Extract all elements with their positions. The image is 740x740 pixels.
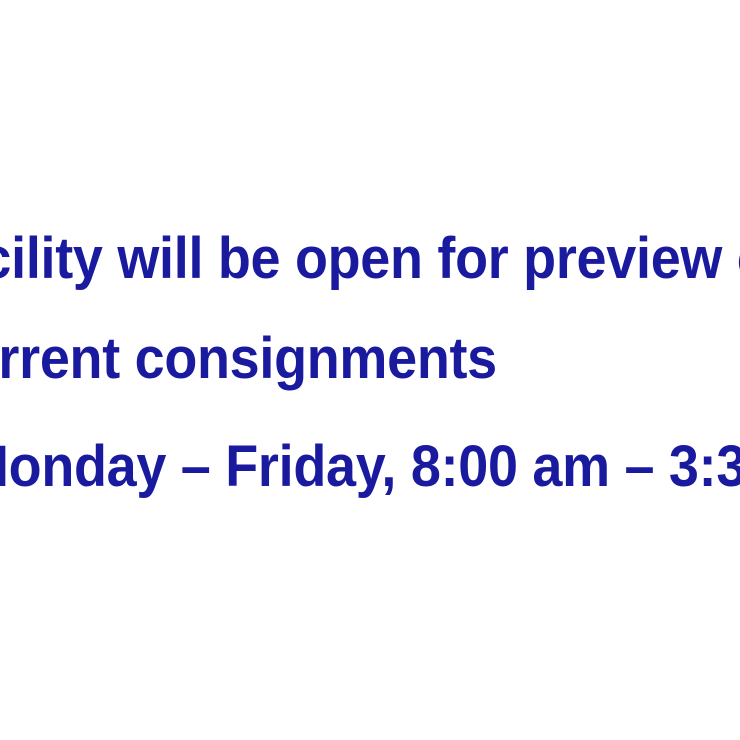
screenshot-canvas: facility will be open for preview of cur…: [0, 0, 740, 740]
notice-line-2: current consignments: [0, 330, 740, 388]
notice-line-1: facility will be open for preview of: [0, 230, 740, 288]
preview-hours-notice: facility will be open for preview of cur…: [0, 206, 740, 516]
notice-line-3: Monday – Friday, 8:00 am – 3:30 pm: [0, 438, 740, 496]
